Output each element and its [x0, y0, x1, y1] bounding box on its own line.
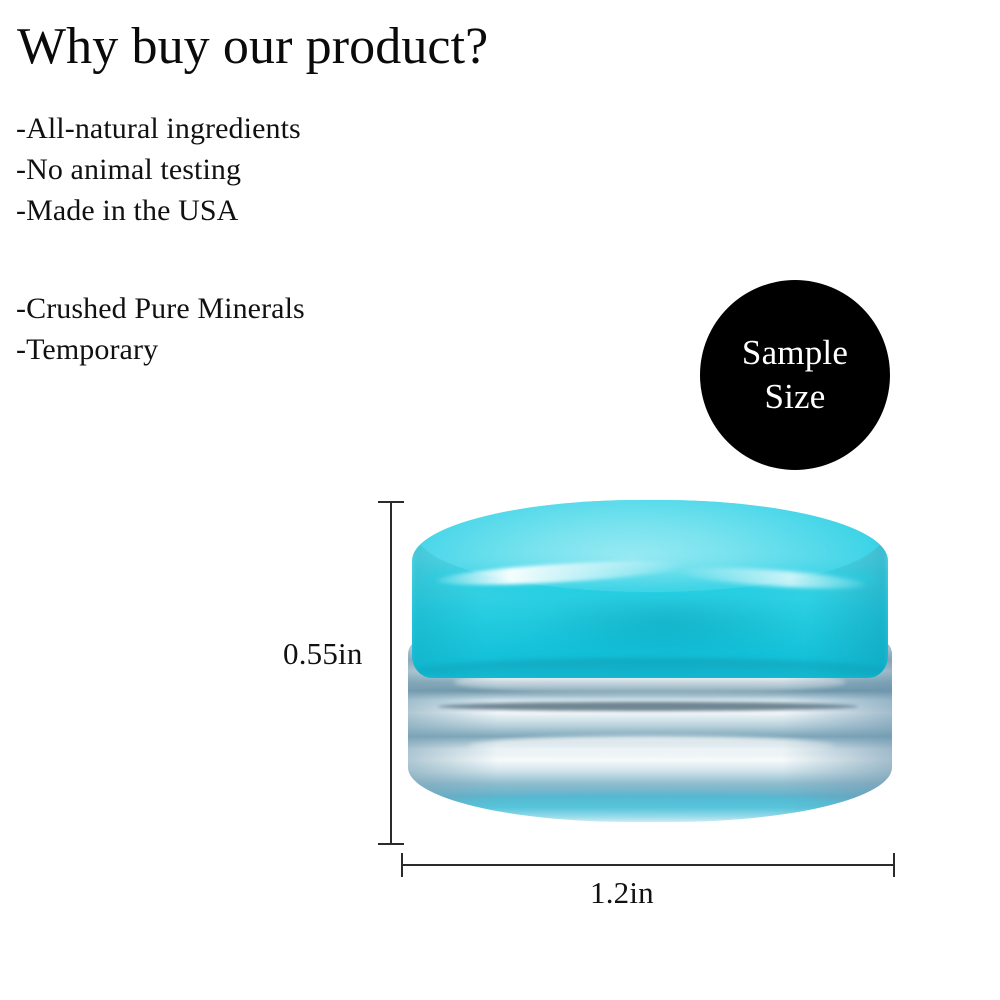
- width-dimension-cap-right: [893, 853, 895, 877]
- list-item: -All-natural ingredients: [16, 108, 301, 149]
- product-info-canvas: Why buy our product? -All-natural ingred…: [0, 0, 1000, 1000]
- product-jar-image: [406, 500, 894, 822]
- sample-size-badge-line-1: Sample: [742, 331, 848, 375]
- width-dimension-label: 1.2in: [590, 875, 654, 911]
- jar-base-bottom-rim: [424, 794, 874, 820]
- height-dimension-cap-top: [378, 501, 404, 503]
- list-item: -No animal testing: [16, 149, 301, 190]
- width-dimension-line: [401, 864, 895, 866]
- list-item: -Made in the USA: [16, 190, 301, 231]
- sample-size-badge: Sample Size: [700, 280, 890, 470]
- sample-size-badge-line-2: Size: [764, 375, 825, 419]
- jar-lid-center-shade: [532, 588, 802, 658]
- jar-lid-bottom-edge: [414, 658, 886, 678]
- height-dimension-cap-bottom: [378, 843, 404, 845]
- height-dimension-label: 0.55in: [283, 636, 363, 672]
- height-dimension-line: [390, 501, 392, 845]
- jar-turquoise-lid: [412, 500, 888, 678]
- jar-base-highlight-lower: [468, 736, 834, 756]
- page-title: Why buy our product?: [17, 18, 488, 76]
- benefits-secondary-list: -Crushed Pure Minerals -Temporary: [16, 288, 305, 370]
- list-item: -Crushed Pure Minerals: [16, 288, 305, 329]
- list-item: -Temporary: [16, 329, 305, 370]
- benefits-primary-list: -All-natural ingredients -No animal test…: [16, 108, 301, 231]
- width-dimension-cap-left: [401, 853, 403, 877]
